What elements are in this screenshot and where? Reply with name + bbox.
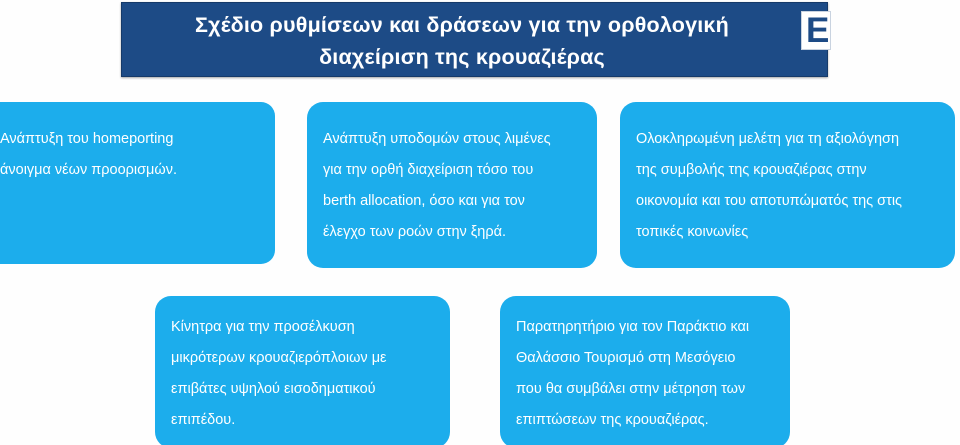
page-title-line-1: Σχέδιο ρυθμίσεων και δράσεων για την ορθ… xyxy=(195,9,729,41)
card-smaller-ships-incentives-line-3: επιβάτες υψηλού εισοδηματικού xyxy=(171,374,438,405)
card-impact-study-line-2: της συμβολής της κρουαζιέρας στην xyxy=(636,155,945,186)
card-observatory-line-1: Παρατηρητήριο για τον Παράκτιο και xyxy=(516,312,778,343)
card-impact-study-line-1: Ολοκληρωμένη μελέτη για τη αξιολόγηση xyxy=(636,124,945,155)
logo-letter-e-icon: E xyxy=(806,11,829,50)
card-homeporting-line-1: Ανάπτυξη του homeporting xyxy=(0,124,261,155)
card-homeporting-line-2: άνοιγμα νέων προορισμών. xyxy=(0,155,261,186)
card-smaller-ships-incentives: Κίνητρα για την προσέλκυση μικρότερων κρ… xyxy=(155,296,450,445)
card-observatory-line-3: που θα συμβάλει στην μέτρηση των xyxy=(516,374,778,405)
card-impact-study-line-4: τοπικές κοινωνίες xyxy=(636,217,945,248)
card-port-infrastructure-line-3: berth allocation, όσο και για τον xyxy=(323,186,581,217)
header-bar: Σχέδιο ρυθμίσεων και δράσεων για την ορθ… xyxy=(121,2,828,77)
page-title-line-2: διαχείριση της κρουαζιέρας xyxy=(319,41,605,73)
card-smaller-ships-incentives-line-4: επιπέδου. xyxy=(171,405,438,436)
card-smaller-ships-incentives-line-1: Κίνητρα για την προσέλκυση xyxy=(171,312,438,343)
card-observatory-line-4: επιπτώσεων της κρουαζιέρας. xyxy=(516,405,778,436)
card-port-infrastructure-line-1: Ανάπτυξη υποδομών στους λιμένες xyxy=(323,124,581,155)
logo-badge: E xyxy=(801,11,831,50)
card-port-infrastructure-line-4: έλεγχο των ροών στην ξηρά. xyxy=(323,217,581,248)
card-smaller-ships-incentives-line-2: μικρότερων κρουαζιερόπλοιων με xyxy=(171,343,438,374)
card-homeporting: Ανάπτυξη του homeporting άνοιγμα νέων πρ… xyxy=(0,102,275,264)
card-observatory-line-2: Θαλάσσιο Τουρισμό στη Μεσόγειο xyxy=(516,343,778,374)
card-impact-study-line-3: οικονομία και του αποτυπώματός της στις xyxy=(636,186,945,217)
card-port-infrastructure-line-2: για την ορθή διαχείριση τόσο του xyxy=(323,155,581,186)
card-impact-study: Ολοκληρωμένη μελέτη για τη αξιολόγηση τη… xyxy=(620,102,955,268)
page-title: Σχέδιο ρυθμίσεων και δράσεων για την ορθ… xyxy=(122,3,802,78)
card-observatory: Παρατηρητήριο για τον Παράκτιο και Θαλάσ… xyxy=(500,296,790,445)
slide-canvas: Σχέδιο ρυθμίσεων και δράσεων για την ορθ… xyxy=(0,0,960,445)
card-port-infrastructure: Ανάπτυξη υποδομών στους λιμένες για την … xyxy=(307,102,597,268)
